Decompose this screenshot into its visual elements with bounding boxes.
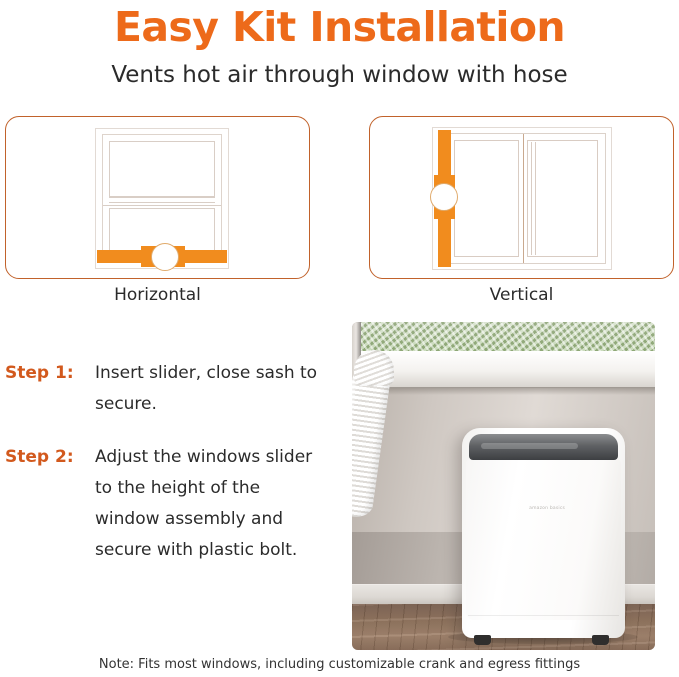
photo-ac-caster-right	[592, 635, 609, 645]
step-2-label: Step 2:	[5, 442, 89, 473]
window-pane-line-b	[535, 142, 536, 255]
photo-ac-brand-logo: amazon basics	[529, 506, 565, 511]
diagram-label-vertical: Vertical	[369, 284, 674, 306]
plastic-bolt-knob-icon	[151, 243, 179, 271]
window-center-divider	[523, 134, 524, 263]
photo-air-conditioner: amazon basics	[462, 428, 625, 638]
horizontal-window-illustration	[95, 128, 229, 269]
photo-exhaust-hose	[354, 342, 474, 542]
plastic-bolt-knob-icon	[430, 183, 458, 211]
window-rail-line	[103, 205, 221, 206]
diagram-row: Horizontal Vertical	[0, 116, 679, 316]
diagram-card-vertical	[369, 116, 674, 279]
photo-ac-seam	[468, 615, 619, 616]
photo-hose-elbow	[354, 350, 394, 386]
diagram-label-horizontal: Horizontal	[5, 284, 310, 306]
window-pane-left	[454, 140, 519, 257]
window-upper-sash	[109, 141, 215, 197]
step-item-2: Step 2: Adjust the windows slider to the…	[0, 442, 340, 566]
header: Easy Kit Installation Vents hot air thro…	[0, 0, 679, 89]
window-pane-line-a	[531, 142, 532, 255]
photo-ac-front-panel	[466, 458, 621, 620]
steps-list: Step 1: Insert slider, close sash to sec…	[0, 358, 340, 588]
photo-hose-body	[352, 365, 392, 519]
window-meeting-rail	[109, 197, 215, 203]
step-item-1: Step 1: Insert slider, close sash to sec…	[0, 358, 340, 420]
photo-ac-vent-highlight	[481, 443, 578, 449]
page-subtitle: Vents hot air through window with hose	[0, 52, 679, 89]
window-pane-right	[527, 140, 598, 257]
page-title: Easy Kit Installation	[0, 0, 679, 52]
footnote: Note: Fits most windows, including custo…	[0, 656, 679, 674]
photo-ac-caster-left	[474, 635, 491, 645]
diagram-card-horizontal	[5, 116, 310, 279]
vertical-window-illustration	[432, 127, 612, 270]
step-1-label: Step 1:	[5, 358, 89, 389]
photo-ac-top-vent	[469, 434, 618, 460]
product-photo: amazon basics	[352, 322, 655, 650]
